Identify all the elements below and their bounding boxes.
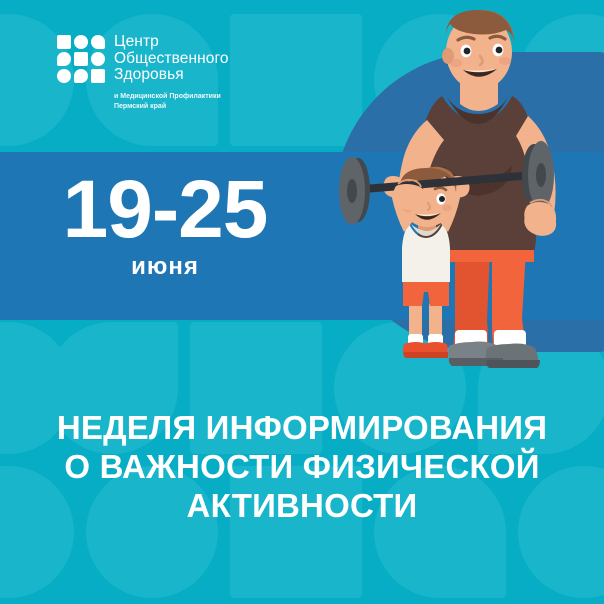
logo: Центр Общественного Здоровья и Медицинск…	[57, 34, 229, 112]
logo-shape-drop-left-icon	[74, 69, 88, 83]
date-range: 19-25	[0, 168, 330, 252]
date-block: 19-25 июня	[0, 168, 330, 280]
logo-line-1: Центр	[114, 34, 229, 51]
logo-shape-circle-icon	[91, 52, 105, 66]
logo-mark-icon	[57, 35, 105, 83]
logo-line-2: Общественного	[114, 51, 229, 68]
headline-line-3: АКТИВНОСТИ	[14, 486, 590, 525]
logo-shape-drop-right-icon	[91, 35, 105, 49]
logo-shape-circle-icon	[57, 69, 71, 83]
logo-shape-circle-icon	[74, 35, 88, 49]
logo-subtitle-1: и Медицинской Профилактики	[114, 92, 229, 102]
headline: НЕДЕЛЯ ИНФОРМИРОВАНИЯ О ВАЖНОСТИ ФИЗИЧЕС…	[0, 408, 604, 525]
logo-shape-square-icon	[57, 35, 71, 49]
logo-shape-square-icon	[91, 69, 105, 83]
logo-subtitle-2: Пермский край	[114, 102, 229, 112]
poster: Центр Общественного Здоровья и Медицинск…	[0, 0, 604, 604]
logo-text-block: Центр Общественного Здоровья и Медицинск…	[114, 34, 229, 112]
logo-line-3: Здоровья	[114, 67, 229, 84]
date-month: июня	[0, 254, 330, 280]
headline-line-2: О ВАЖНОСТИ ФИЗИЧЕСКОЙ	[14, 447, 590, 486]
headline-line-1: НЕДЕЛЯ ИНФОРМИРОВАНИЯ	[14, 408, 590, 447]
logo-shape-drop-left-icon	[57, 52, 71, 66]
logo-shape-square-icon	[74, 52, 88, 66]
